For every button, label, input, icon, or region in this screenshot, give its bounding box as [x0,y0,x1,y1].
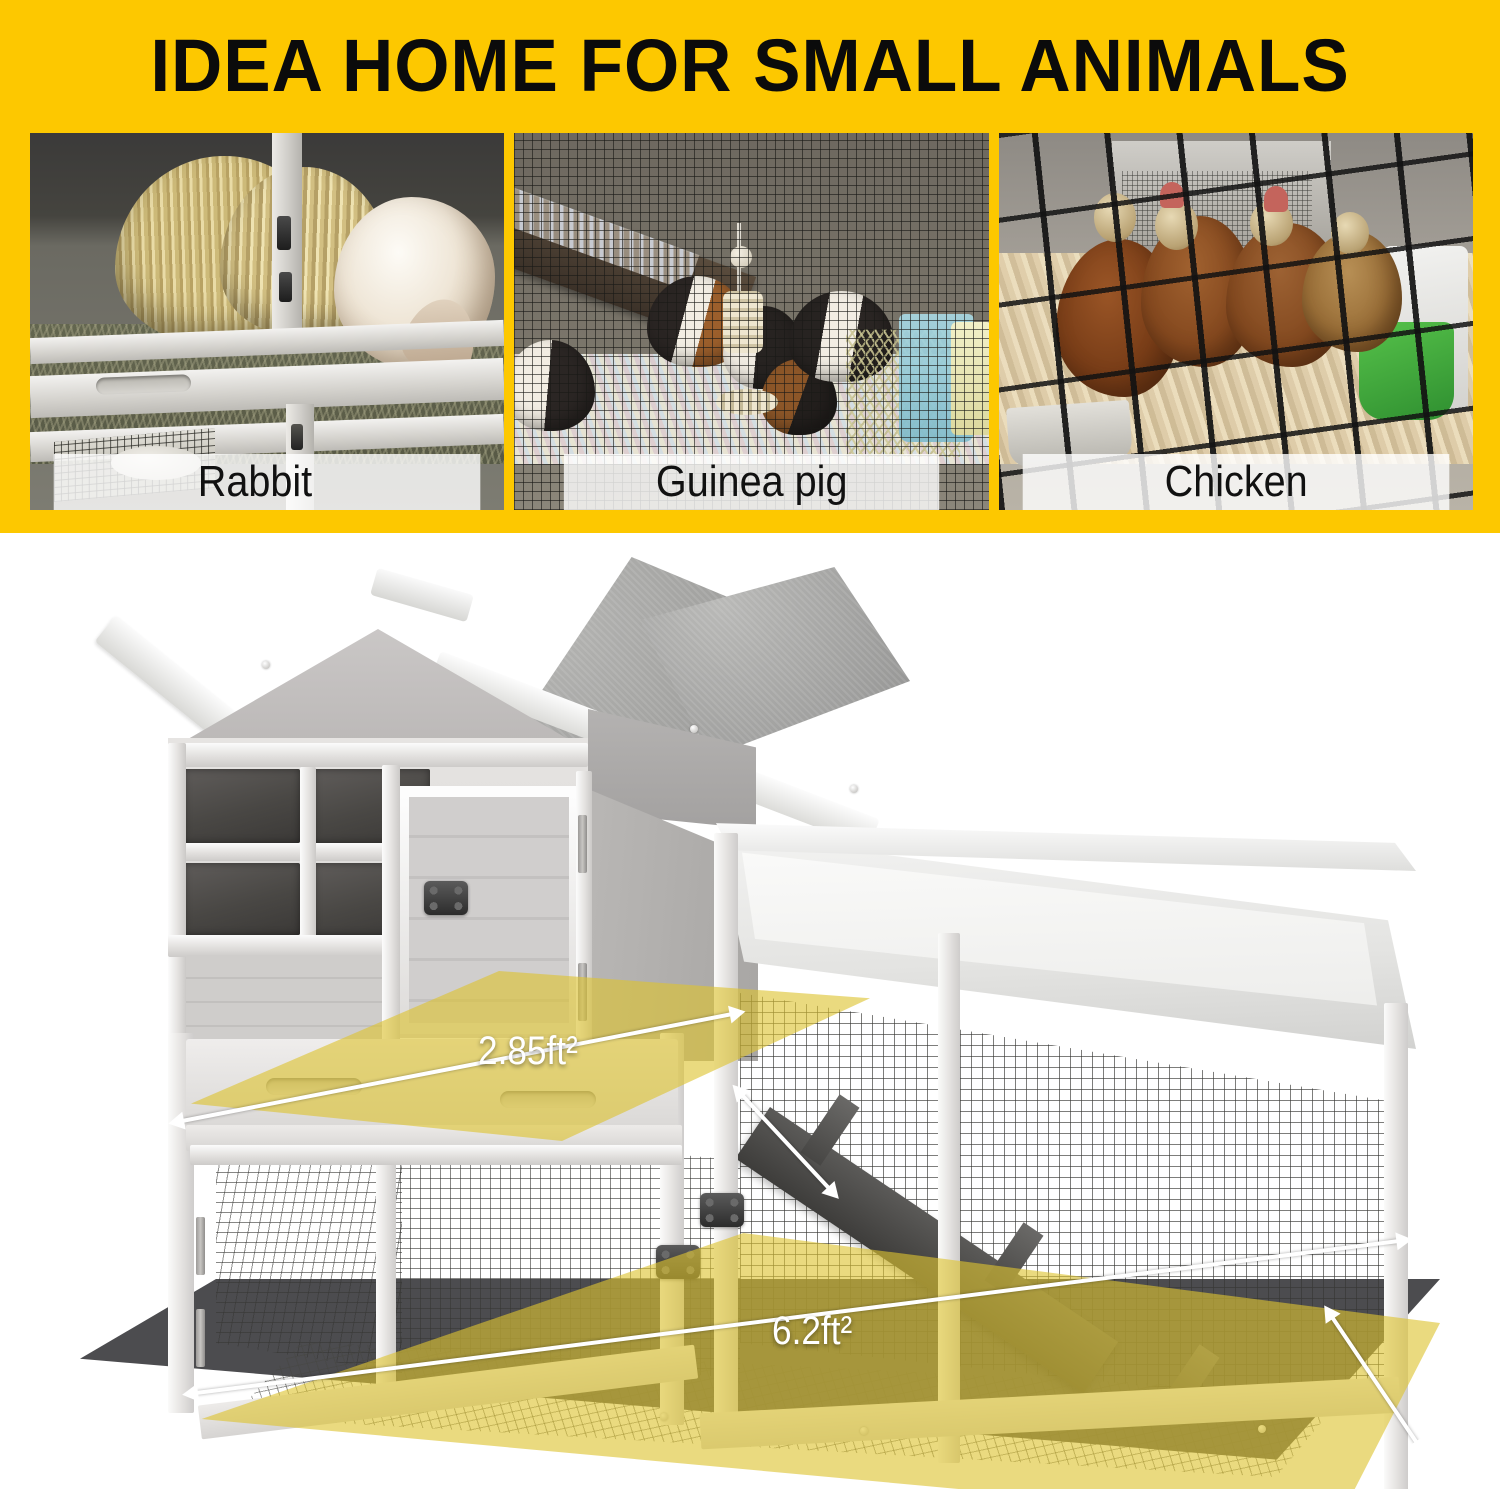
lower-plank-panel [186,955,398,1041]
upper-door-latch[interactable] [424,881,468,915]
animal-photo-row: Rabbit Guinea pig [30,133,1473,510]
photo-caption-rabbit: Rabbit [54,454,481,510]
photo-card-rabbit: Rabbit [30,133,504,510]
tray-handle-right[interactable] [500,1091,596,1108]
hinge-icon [196,1309,205,1367]
screw-icon [860,1427,868,1435]
run-door-latch-lower[interactable] [656,1245,700,1279]
window-frame-top [168,743,588,767]
screw-icon [262,661,270,669]
photo-caption-chicken: Chicken [1022,454,1449,510]
rabbit-hutch-illustration [0,533,1500,1489]
latch-icon-lower [291,424,303,450]
run-post-middle [938,933,960,1463]
page-title: IDEA HOME FOR SMALL ANIMALS [30,24,1470,108]
hinge-icon [578,815,587,873]
latch-icon-secondary [279,272,292,302]
run-door-latch-upper[interactable] [700,1193,744,1227]
photo-card-guinea-pig: Guinea pig [514,133,988,510]
photo-caption-guinea-pig: Guinea pig [564,454,940,510]
screw-icon [660,1413,668,1421]
door-jamb-left [382,765,400,1043]
roof-ridge-cap [370,568,474,622]
screw-icon [1258,1425,1266,1433]
window-pane [184,863,300,935]
window-pane [184,769,300,843]
hinge-icon [196,1217,205,1275]
screw-icon [690,725,698,733]
pull-out-tray-upper[interactable] [186,1039,678,1125]
run-door-header [190,1145,682,1165]
lower-area-label: 6.2ft² [772,1309,852,1354]
screw-icon [850,785,858,793]
photo-card-chicken: Chicken [999,133,1473,510]
run-post-left [714,833,738,1443]
upper-area-label: 2.85ft² [478,1029,578,1074]
window-mullion [300,767,316,937]
product-photo: 2.85ft² 6.2ft² [0,533,1500,1489]
latch-icon [277,216,291,250]
corner-post-left [168,743,186,1043]
header-banner: IDEA HOME FOR SMALL ANIMALS Rabbit [0,0,1500,533]
hinge-icon [578,963,587,1021]
